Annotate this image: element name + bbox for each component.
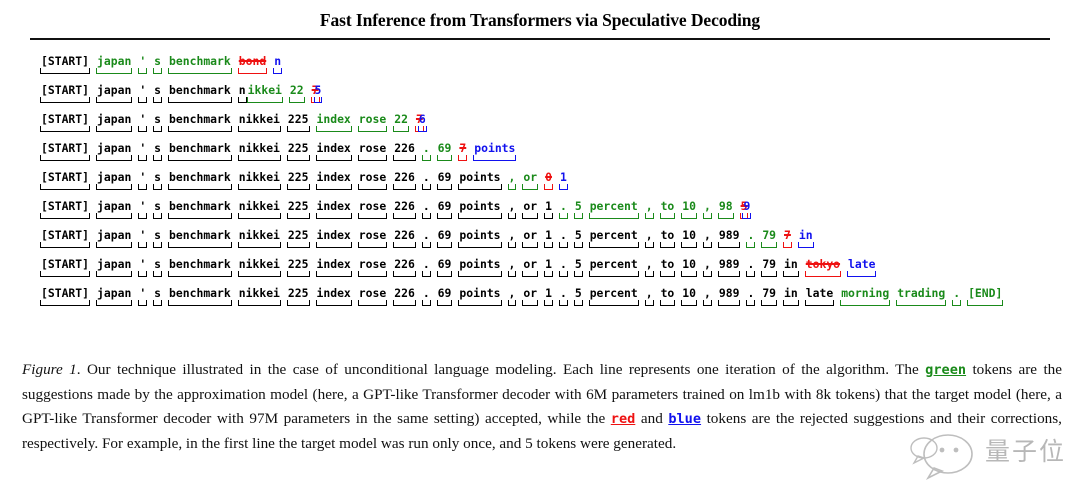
token-text: 22 (393, 112, 409, 126)
token-green: 22 (393, 112, 409, 133)
token-black: 5 (574, 286, 583, 307)
token-text: 226 (393, 141, 416, 155)
token-underline-bracket (681, 213, 697, 219)
token-text: percent (589, 257, 639, 271)
token-underline-bracket (746, 242, 755, 248)
token-underline-bracket (681, 300, 697, 306)
token-underline-bracket (168, 126, 232, 132)
token-underline-bracket (153, 184, 162, 190)
token-black: 69 (437, 199, 453, 220)
token-underline-bracket (544, 271, 553, 277)
token-underline-bracket (247, 97, 283, 103)
token-underline-bracket (589, 300, 639, 306)
token-text: ' (138, 228, 147, 242)
token-text: . (746, 257, 755, 271)
token-text: nikkei (238, 199, 281, 213)
token-text: n (273, 54, 282, 68)
token-green: percent (589, 199, 639, 220)
token-black: , (508, 286, 517, 307)
token-underline-bracket (508, 213, 517, 219)
token-text: [START] (40, 199, 90, 213)
token-underline-bracket (238, 68, 267, 74)
token-black: , (645, 228, 654, 249)
token-text: japan (96, 170, 132, 184)
token-black: 5 (574, 257, 583, 278)
token-green: 22 (289, 83, 305, 104)
token-text: 7 (783, 228, 792, 242)
token-text: [START] (40, 83, 90, 97)
token-green: ' (138, 54, 147, 75)
token-red-rejected: bond (238, 54, 267, 75)
token-text: japan (96, 228, 132, 242)
token-text: late (805, 286, 834, 300)
token-black: or (522, 199, 538, 220)
token-underline-bracket (40, 97, 90, 103)
caption-keyword-green: green (925, 362, 966, 378)
token-text: 79 (761, 257, 777, 271)
token-text: benchmark (168, 199, 232, 213)
token-text: rose (358, 286, 387, 300)
token-text: 226 (393, 199, 416, 213)
token-underline-bracket (40, 126, 90, 132)
token-underline-bracket (138, 213, 147, 219)
figure-token-trace: [START]japan'sbenchmarkbondn[START]japan… (0, 54, 1080, 315)
token-black: 989 (718, 228, 741, 249)
token-text: . (559, 257, 568, 271)
token-black: nikkei (238, 141, 281, 162)
token-underline-bracket (418, 126, 427, 132)
token-text: 69 (437, 199, 453, 213)
token-text: benchmark (168, 286, 232, 300)
token-text: [START] (40, 54, 90, 68)
token-underline-bracket (896, 300, 946, 306)
token-black: [START] (40, 286, 90, 307)
token-black: . (422, 199, 431, 220)
token-text: index (316, 141, 352, 155)
token-black: index (316, 228, 352, 249)
token-black: . (746, 257, 755, 278)
token-underline-bracket (559, 300, 568, 306)
token-black: japan (96, 170, 132, 191)
token-black: , (508, 199, 517, 220)
token-underline-bracket (393, 242, 416, 248)
token-green: , (703, 199, 712, 220)
token-text: . (422, 257, 431, 271)
token-text: 69 (437, 257, 453, 271)
token-black: japan (96, 199, 132, 220)
token-text: percent (589, 228, 639, 242)
token-black: [START] (40, 83, 90, 104)
token-underline-bracket (138, 97, 147, 103)
token-underline-bracket (783, 271, 799, 277)
token-black: to (660, 257, 676, 278)
token-black: 225 (287, 170, 310, 191)
token-black: percent (589, 286, 639, 307)
token-green: index (316, 112, 352, 133)
token-text: 225 (287, 112, 310, 126)
token-text: ' (138, 286, 147, 300)
token-black: . (559, 257, 568, 278)
token-text: benchmark (168, 257, 232, 271)
token-underline-bracket (168, 155, 232, 161)
token-black: , (703, 286, 712, 307)
token-text: 79 (761, 228, 777, 242)
trace-line: [START]japan'sbenchmarknikkei225indexros… (40, 112, 1080, 141)
token-red-rejected: tokyo (805, 257, 841, 278)
token-underline-bracket (458, 213, 501, 219)
token-black: or (522, 286, 538, 307)
token-text: 1 (544, 257, 553, 271)
token-text: 69 (437, 141, 453, 155)
token-underline-bracket (847, 271, 876, 277)
token-underline-bracket (238, 126, 281, 132)
token-black: [START] (40, 170, 90, 191)
token-text: . (746, 286, 755, 300)
token-text: in (783, 286, 799, 300)
token-text: 10 (681, 257, 697, 271)
token-underline-bracket (138, 300, 147, 306)
token-black: 225 (287, 141, 310, 162)
token-text: ' (138, 54, 147, 68)
token-underline-bracket (316, 155, 352, 161)
token-blue: 6 (418, 112, 427, 133)
token-black: n (238, 83, 247, 104)
token-underline-bracket (287, 126, 310, 132)
trace-line: [START]japan'sbenchmarknikkei225indexros… (40, 286, 1080, 315)
token-blue: 5 (314, 83, 323, 104)
token-text: , (645, 286, 654, 300)
token-underline-bracket (153, 213, 162, 219)
caption-segment-3: and (635, 410, 668, 427)
token-black: ' (138, 170, 147, 191)
token-underline-bracket (393, 155, 416, 161)
token-text: ikkei (247, 83, 283, 97)
token-black: 989 (718, 286, 741, 307)
token-black: . (422, 228, 431, 249)
token-black: . (422, 286, 431, 307)
token-underline-bracket (522, 213, 538, 219)
caption-keyword-blue: blue (668, 411, 701, 427)
token-black: japan (96, 141, 132, 162)
token-black: s (153, 83, 162, 104)
token-text: japan (96, 112, 132, 126)
trace-line: [START]japan'sbenchmarknikkei225indexros… (40, 199, 1080, 228)
token-text: , (508, 199, 517, 213)
token-text: 1 (559, 170, 568, 184)
token-underline-bracket (358, 242, 387, 248)
token-underline-bracket (783, 300, 799, 306)
token-text: nikkei (238, 141, 281, 155)
token-text: . (559, 199, 568, 213)
token-black: 5 (574, 228, 583, 249)
token-text: . (559, 286, 568, 300)
token-underline-bracket (422, 242, 431, 248)
trace-line: [START]japan'sbenchmarknikkei225indexros… (40, 228, 1080, 257)
token-text: percent (589, 199, 639, 213)
token-black: 1 (544, 286, 553, 307)
token-black: nikkei (238, 286, 281, 307)
token-black: [START] (40, 112, 90, 133)
token-text: 989 (718, 286, 741, 300)
token-black: s (153, 170, 162, 191)
token-underline-bracket (273, 68, 282, 74)
token-text: 226 (393, 170, 416, 184)
token-text: 5 (574, 286, 583, 300)
token-black: . (422, 170, 431, 191)
token-text: s (153, 257, 162, 271)
token-text: or (522, 199, 538, 213)
token-underline-bracket (742, 213, 751, 219)
token-green: . (746, 228, 755, 249)
token-text: japan (96, 83, 132, 97)
token-underline-bracket (645, 300, 654, 306)
token-underline-bracket (168, 213, 232, 219)
token-underline-bracket (153, 300, 162, 306)
token-underline-bracket (393, 126, 409, 132)
token-underline-bracket (681, 242, 697, 248)
token-blue: 1 (559, 170, 568, 191)
token-green: . (422, 141, 431, 162)
token-underline-bracket (746, 271, 755, 277)
token-underline-bracket (96, 97, 132, 103)
token-underline-bracket (681, 271, 697, 277)
token-text: . (422, 170, 431, 184)
token-text: [START] (40, 141, 90, 155)
token-underline-bracket (746, 300, 755, 306)
token-text: nikkei (238, 257, 281, 271)
token-text: japan (96, 54, 132, 68)
token-underline-bracket (805, 271, 841, 277)
token-black: benchmark (168, 170, 232, 191)
token-text: , (508, 228, 517, 242)
token-text: [START] (40, 170, 90, 184)
page-title: Fast Inference from Transformers via Spe… (0, 10, 1080, 31)
page-header: Fast Inference from Transformers via Spe… (0, 0, 1080, 40)
token-underline-bracket (138, 242, 147, 248)
token-underline-bracket (238, 242, 281, 248)
token-black: benchmark (168, 286, 232, 307)
token-green: 79 (761, 228, 777, 249)
token-text: points (458, 170, 501, 184)
token-text: or (522, 228, 538, 242)
token-underline-bracket (287, 300, 310, 306)
token-underline-bracket (358, 213, 387, 219)
token-text: index (316, 112, 352, 126)
token-underline-bracket (358, 155, 387, 161)
token-black: or (522, 228, 538, 249)
token-underline-bracket (660, 242, 676, 248)
token-text: nikkei (238, 112, 281, 126)
token-text: 989 (718, 257, 741, 271)
token-text: points (458, 199, 501, 213)
token-text: 1 (544, 286, 553, 300)
token-underline-bracket (458, 242, 501, 248)
token-underline-bracket (314, 97, 323, 103)
token-text: 9 (742, 199, 751, 213)
token-underline-bracket (168, 271, 232, 277)
token-underline-bracket (522, 184, 538, 190)
token-underline-bracket (40, 184, 90, 190)
token-underline-bracket (168, 242, 232, 248)
token-underline-bracket (287, 242, 310, 248)
token-text: , (508, 170, 517, 184)
token-black: [START] (40, 257, 90, 278)
token-text: index (316, 199, 352, 213)
token-text: japan (96, 141, 132, 155)
token-underline-bracket (458, 300, 501, 306)
token-black: in (783, 286, 799, 307)
token-black: rose (358, 228, 387, 249)
trace-line: [START]japan'sbenchmarknikkei225indexros… (40, 141, 1080, 170)
token-text: rose (358, 257, 387, 271)
token-text: points (458, 257, 501, 271)
token-black: 226 (393, 199, 416, 220)
token-green: ikkei (247, 83, 283, 104)
token-underline-bracket (153, 242, 162, 248)
token-black: to (660, 228, 676, 249)
token-green: . (559, 199, 568, 220)
trace-line: [START]japan'sbenchmarknikkei225indexros… (40, 257, 1080, 286)
token-underline-bracket (718, 213, 734, 219)
token-green: [END] (967, 286, 1003, 307)
token-black: nikkei (238, 170, 281, 191)
figure-caption: Figure 1. Our technique illustrated in t… (22, 358, 1062, 456)
token-underline-bracket (96, 271, 132, 277)
token-text: s (153, 83, 162, 97)
token-underline-bracket (138, 68, 147, 74)
token-black: index (316, 257, 352, 278)
token-text: 225 (287, 257, 310, 271)
token-text: to (660, 228, 676, 242)
token-underline-bracket (559, 213, 568, 219)
token-underline-bracket (473, 155, 516, 161)
token-text: index (316, 257, 352, 271)
token-text: rose (358, 141, 387, 155)
token-underline-bracket (287, 213, 310, 219)
token-black: percent (589, 257, 639, 278)
token-text: , (645, 199, 654, 213)
token-text: to (660, 286, 676, 300)
token-text: 69 (437, 170, 453, 184)
token-underline-bracket (967, 300, 1003, 306)
token-underline-bracket (458, 271, 501, 277)
token-text: benchmark (168, 141, 232, 155)
token-black: 225 (287, 228, 310, 249)
token-text: 5 (574, 257, 583, 271)
token-black: 1 (544, 228, 553, 249)
caption-keyword-red: red (611, 411, 636, 427)
token-text: 7 (458, 141, 467, 155)
token-text: nikkei (238, 286, 281, 300)
header-divider (30, 38, 1050, 40)
token-text: [START] (40, 286, 90, 300)
token-underline-bracket (393, 300, 416, 306)
token-green: to (660, 199, 676, 220)
token-blue: points (473, 141, 516, 162)
token-black: [START] (40, 228, 90, 249)
token-black: , (645, 257, 654, 278)
token-text: points (458, 286, 501, 300)
token-underline-bracket (508, 271, 517, 277)
token-black: benchmark (168, 83, 232, 104)
token-underline-bracket (508, 184, 517, 190)
token-black: 989 (718, 257, 741, 278)
token-green: 98 (718, 199, 734, 220)
token-underline-bracket (703, 300, 712, 306)
token-black: ' (138, 83, 147, 104)
token-green: s (153, 54, 162, 75)
token-text: . (559, 228, 568, 242)
token-underline-bracket (544, 242, 553, 248)
token-text: benchmark (168, 228, 232, 242)
token-text: nikkei (238, 228, 281, 242)
token-green: 5 (574, 199, 583, 220)
token-black: ' (138, 141, 147, 162)
token-text: , (703, 257, 712, 271)
token-text: . (746, 228, 755, 242)
caption-segment-1: . Our technique illustrated in the case … (77, 361, 925, 378)
token-black: 225 (287, 257, 310, 278)
token-underline-bracket (289, 97, 305, 103)
token-green: or (522, 170, 538, 191)
token-text: to (660, 199, 676, 213)
token-underline-bracket (703, 271, 712, 277)
token-black: [START] (40, 141, 90, 162)
token-black: or (522, 257, 538, 278)
token-green: benchmark (168, 54, 232, 75)
token-text: rose (358, 228, 387, 242)
token-underline-bracket (508, 300, 517, 306)
token-red-rejected: 7 (783, 228, 792, 249)
token-underline-bracket (783, 242, 792, 248)
token-underline-bracket (40, 155, 90, 161)
token-underline-bracket (508, 242, 517, 248)
token-text: index (316, 286, 352, 300)
token-underline-bracket (761, 242, 777, 248)
token-text: 226 (393, 286, 416, 300)
token-black: s (153, 286, 162, 307)
token-underline-bracket (168, 97, 232, 103)
token-underline-bracket (703, 242, 712, 248)
token-black: , (508, 257, 517, 278)
token-blue: n (273, 54, 282, 75)
token-black: japan (96, 257, 132, 278)
token-underline-bracket (96, 155, 132, 161)
token-black: s (153, 228, 162, 249)
token-underline-bracket (798, 242, 814, 248)
token-text: bond (238, 54, 267, 68)
token-underline-bracket (703, 213, 712, 219)
token-text: ' (138, 199, 147, 213)
token-text: index (316, 170, 352, 184)
token-black: 10 (681, 228, 697, 249)
token-text: 69 (437, 286, 453, 300)
token-text: rose (358, 170, 387, 184)
token-text: [START] (40, 112, 90, 126)
token-underline-bracket (138, 126, 147, 132)
token-text: . (422, 141, 431, 155)
token-text: , (703, 286, 712, 300)
token-underline-bracket (840, 300, 890, 306)
token-underline-bracket (168, 300, 232, 306)
token-text: 225 (287, 286, 310, 300)
token-underline-bracket (96, 68, 132, 74)
token-blue: late (847, 257, 876, 278)
token-text: 0 (544, 170, 553, 184)
token-underline-bracket (437, 271, 453, 277)
token-black: japan (96, 112, 132, 133)
token-text: 225 (287, 228, 310, 242)
